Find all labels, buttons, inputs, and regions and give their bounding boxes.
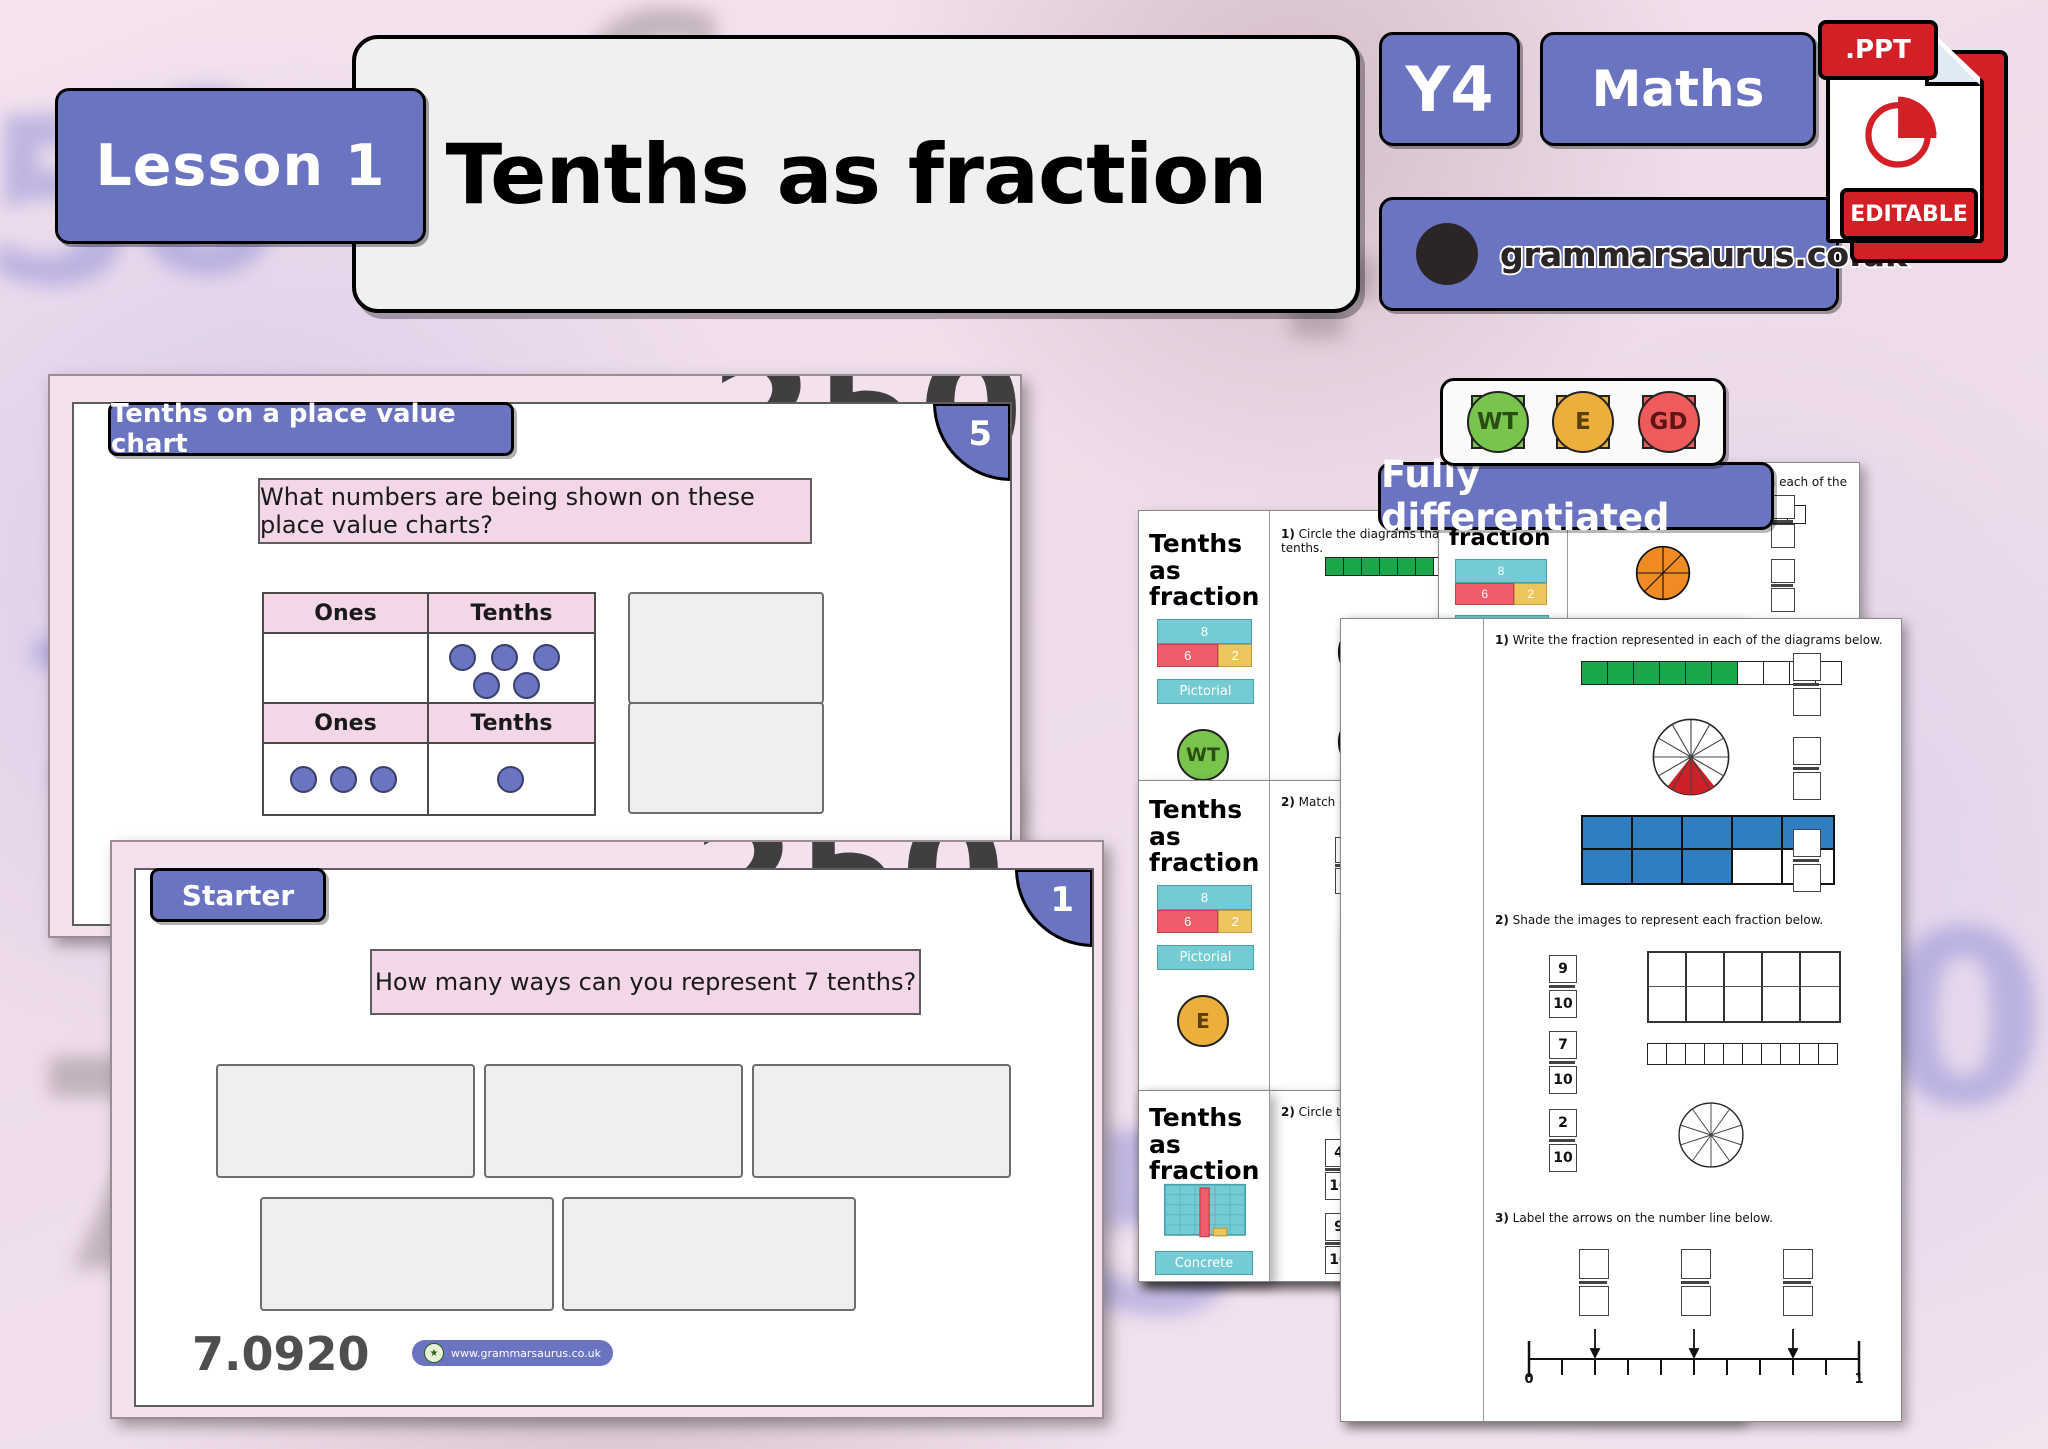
ppt-editable-label: EDITABLE [1840,188,1978,240]
method-label: Pictorial [1157,945,1254,970]
worksheet-front[interactable]: 1) Write the fraction represented in eac… [1340,618,1902,1422]
bar-part-right: 2 [1218,910,1252,933]
slide-number-badge: 1 [1015,869,1093,947]
slide-section-tag: Tenths on a place value chart [108,402,514,456]
q1-pie-diagram [1651,717,1731,797]
question-number: 1) [1495,633,1509,647]
place-value-chart-2: Ones Tenths [262,702,596,816]
fraction-denominator: 10 [1549,990,1577,1018]
differentiation-seal-group: WT E GD [1440,378,1726,466]
q2-fraction-2: 7 10 [1549,1031,1577,1094]
bar-part-left: 6 [1157,644,1218,667]
seal-label: GD [1650,409,1688,435]
differentiation-seal: WT [1177,729,1229,781]
fraction-answer-box[interactable] [1771,495,1795,548]
q1-text: 1) Write the fraction represented in eac… [1495,633,1885,647]
slide-footer-logo: ★ www.grammarsaurus.co.uk [412,1340,613,1366]
pv-header-tenths: Tenths [429,704,594,744]
slide-background-numeral-2: 7.0920 [192,1327,370,1381]
counter [449,644,476,671]
answer-box[interactable] [628,592,824,704]
bar-whole: 8 [1157,619,1252,644]
pie-chart-icon [1863,92,1941,170]
answer-box[interactable] [752,1064,1011,1178]
pv-cell-tenths [429,744,594,814]
bar-part-right: 2 [1218,644,1252,667]
bar-part-right: 2 [1514,583,1547,605]
q3-answer-fraction-3[interactable] [1783,1249,1813,1316]
wallpaper-numeral: 0 [1880,880,2047,1160]
q3-answer-fraction-1[interactable] [1579,1249,1609,1316]
pv-cell-tenths [429,634,594,704]
counter [290,766,317,793]
slide-question-box: How many ways can you represent 7 tenths… [370,949,921,1015]
seal-label: E [1575,409,1591,435]
grammarsaurus-logo-icon: ★ [424,1343,444,1363]
fraction-answer-box[interactable] [1771,559,1795,612]
pv-header-ones: Ones [264,704,429,744]
ppt-format-label: .PPT [1818,20,1938,80]
q2-pie-10[interactable] [1677,1101,1745,1169]
q1-answer-fraction-1[interactable] [1793,653,1821,716]
worksheet-title: Tenths as fraction [1149,1105,1269,1185]
bar-part-left: 6 [1157,910,1218,933]
answer-box[interactable] [628,702,824,814]
answer-box[interactable] [484,1064,743,1178]
q1-answer-fraction-3[interactable] [1793,829,1821,892]
subject-badge: Maths [1540,32,1816,146]
bar-parts: 6 2 [1157,910,1252,933]
fraction-numerator: 7 [1549,1031,1577,1059]
slide-footer-url: www.grammarsaurus.co.uk [451,1347,601,1360]
svg-text:0: 0 [1524,1372,1533,1387]
question-body: Write the fraction represented in each o… [1513,633,1883,647]
lesson-number-badge: Lesson 1 [55,88,426,244]
brand-dot-icon [1416,223,1478,285]
bar-whole: 8 [1157,885,1252,910]
fraction-numerator: 9 [1549,955,1577,983]
question-number: 2) [1495,913,1509,927]
bar-part-left: 6 [1455,583,1514,605]
seal-wt: WT [1467,391,1529,453]
answer-box[interactable] [260,1197,554,1311]
pv-header-tenths: Tenths [429,594,594,634]
site-url-badge: grammarsaurus.co.uk [1379,197,1839,311]
pie-diagram-orange [1635,545,1691,601]
q2-fraction-1: 9 10 [1549,955,1577,1018]
fraction-denominator: 10 [1549,1144,1577,1172]
slide-question-box: What numbers are being shown on these pl… [258,478,812,544]
counter [491,644,518,671]
bar-parts: 6 2 [1455,583,1547,605]
counter [473,672,500,699]
q2-bar-10[interactable] [1647,1043,1838,1065]
bar-model: 8 6 2 [1157,619,1252,667]
q3-text: 3) Label the arrows on the number line b… [1495,1211,1885,1225]
worksheet-title: Tenths as fraction [1149,531,1269,611]
slide-preview-starter[interactable]: 250 1 Starter How many ways can you repr… [110,840,1104,1419]
counter [497,766,524,793]
worksheet-cover-card-concrete[interactable]: Tenths as fraction Concrete [1138,1090,1270,1282]
seal-label: WT [1477,409,1518,435]
q3-number-line: 0 1 [1497,1309,1887,1387]
question-number: 2) [1281,795,1295,809]
question-body: Shade the images to represent each fract… [1513,913,1824,927]
worksheet-cover-strip [1341,619,1484,1421]
differentiation-seal: E [1177,995,1229,1047]
question-number: 2) [1281,1105,1295,1119]
method-label: Pictorial [1157,679,1254,704]
bar-model: 8 6 2 [1455,559,1547,605]
lesson-title-card: Tenths as fraction [352,35,1360,313]
answer-box[interactable] [216,1064,475,1178]
q2-fraction-3: 2 10 [1549,1109,1577,1172]
method-label: Concrete [1155,1251,1253,1275]
bar-model: 8 6 2 [1157,885,1252,933]
q1-answer-fraction-2[interactable] [1793,737,1821,800]
fraction-numerator: 2 [1549,1109,1577,1137]
year-group-badge: Y4 [1379,32,1520,146]
worksheet-title: Tenths as fraction [1149,797,1269,877]
page-title: Tenths as fraction [446,126,1267,223]
concrete-blocks-icon [1163,1183,1247,1245]
place-value-chart-1: Ones Tenths [262,592,596,706]
bar-parts: 6 2 [1157,644,1252,667]
slide-section-tag: Starter [150,868,326,922]
question-number: 3) [1495,1211,1509,1225]
counter [370,766,397,793]
pv-cell-ones [264,634,429,704]
svg-text:1: 1 [1854,1372,1863,1387]
ppt-file-icon: .PPT EDITABLE [1818,20,2003,265]
pv-cell-ones [264,744,429,814]
slide-number-badge: 5 [933,403,1011,481]
pv-header-ones: Ones [264,594,429,634]
fully-differentiated-label: Fully differentiated [1378,462,1774,530]
question-number: 1) [1281,527,1295,541]
q3-answer-fraction-2[interactable] [1681,1249,1711,1316]
counter [533,644,560,671]
counter [330,766,357,793]
counter [513,672,540,699]
bar-whole: 8 [1455,559,1547,583]
question-body: Label the arrows on the number line belo… [1513,1211,1773,1225]
q2-text: 2) Shade the images to represent each fr… [1495,913,1885,927]
q2-grid-5x2[interactable] [1647,951,1841,1023]
seal-gd: GD [1638,391,1700,453]
answer-box[interactable] [562,1197,856,1311]
fraction-denominator: 10 [1549,1066,1577,1094]
seal-e: E [1552,391,1614,453]
